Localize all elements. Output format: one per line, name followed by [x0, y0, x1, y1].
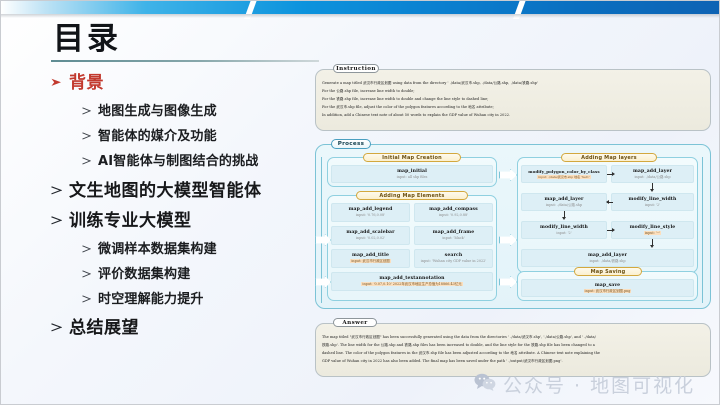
top-banner-decoration [1, 1, 720, 14]
function-input: input: 'black' [442, 236, 464, 241]
function-input: input: ./data/铁路.shp [589, 259, 625, 264]
outline-item-label: 总结展望 [69, 316, 139, 341]
function-input: input: 武汉市行政区划图.png [584, 289, 632, 294]
outline-item-label: 背景 [69, 71, 104, 96]
page-title: 目录 [53, 22, 121, 56]
outline-item-train-domain-model[interactable]: 训练专业大模型 [51, 209, 313, 234]
process-cell-map-add-layer-3[interactable]: map_add_layer input: ./data/铁路.shp [521, 249, 694, 267]
process-cell-modify-line-style[interactable]: modify_line_style input: '--' [611, 221, 694, 239]
group-label-initial-map-creation: Initial Map Creation [363, 153, 461, 162]
process-tab: Process [331, 139, 371, 149]
outline-item-background[interactable]: 背景 [51, 71, 313, 96]
arrow-bullet-icon [82, 245, 91, 253]
workflow-diagram: Instruction Generate a map titled 武汉市行政区… [313, 61, 713, 391]
presentation-slide: 目录 背景 地图生成与图像生成 智能体的媒介及功能 AI智能体与制图结合的挑 [0, 0, 720, 405]
banner-shadow [1, 14, 720, 18]
function-input-highlight: input: ./data/武汉市.shp 地名 'Set1' [537, 175, 590, 179]
instruction-tab: Instruction [333, 64, 379, 73]
arrow-bullet-icon [82, 270, 91, 278]
outline-item-label: 文生地图的大模型智能体 [69, 179, 262, 204]
function-input: input: '2' [645, 203, 660, 208]
function-input: input: '2' [556, 231, 571, 236]
instruction-line-3: For the 铁路.shp file, increase line width… [322, 97, 704, 102]
title-underline [51, 60, 319, 62]
outline-item-label: 微调样本数据集构建 [98, 238, 217, 262]
process-cell-map-add-scalebar[interactable]: map_add_scalebar input: '0.02,0.02' [331, 226, 410, 245]
function-input-highlight: input: 武汉市行政区划图 [350, 259, 390, 263]
process-cell-map-add-layer-1[interactable]: map_add_layer input: ./data/公路.shp [611, 165, 694, 183]
outline-item-label: 智能体的媒介及功能 [98, 125, 217, 149]
outline-item-text-to-map-agent[interactable]: 文生地图的大模型智能体 [51, 179, 313, 204]
outline-item-label: 时空理解能力提升 [98, 288, 204, 312]
instruction-line-2: For the 公路.shp file, increase line width… [322, 89, 704, 94]
outline-list: 背景 地图生成与图像生成 智能体的媒介及功能 AI智能体与制图结合的挑战 文生地 [51, 71, 313, 345]
instruction-line-1: Generate a map titled 武汉市行政区划图 using dat… [322, 81, 704, 86]
function-input: input: '0.92,0.88' [439, 213, 468, 218]
function-input: input: '0.07,0.10' 2022年武汉市地区生产总值为18866.… [361, 282, 462, 287]
answer-line-1: The map titled "武汉市行政区划图" has been succe… [322, 335, 706, 340]
function-input: input: '0.02,0.02' [356, 236, 385, 241]
outline-item-label: AI智能体与制图结合的挑战 [98, 150, 259, 174]
group-label-map-saving: Map Saving [574, 267, 642, 276]
arrow-bullet-icon [82, 295, 91, 303]
outline-item-finetune-dataset[interactable]: 微调样本数据集构建 [82, 238, 313, 262]
arrow-bullet-icon [51, 78, 62, 87]
function-input: input: '0.76,0.08' [356, 213, 385, 218]
process-cell-map-add-legend[interactable]: map_add_legend input: '0.76,0.08' [331, 203, 410, 222]
group-label-adding-map-layers: Adding Map layers [561, 153, 657, 162]
answer-line-4: GDP value of Wuhan city in 2022 has also… [322, 359, 706, 364]
function-input: input: ./data/武汉市.shp 地名 'Set1' [537, 175, 590, 180]
outline-item-agent-medium-function[interactable]: 智能体的媒介及功能 [82, 125, 313, 149]
outline-item-label: 评价数据集构建 [98, 263, 190, 287]
process-cell-map-add-title[interactable]: map_add_title input: 武汉市行政区划图 [331, 249, 410, 268]
function-input: input: 武汉市行政区划图 [350, 259, 390, 264]
group-label-adding-map-elements: Adding Map Elements [356, 191, 468, 200]
instruction-line-5: In addition, add a Chinese text note of … [322, 113, 704, 118]
function-input: input: '--' [644, 231, 661, 236]
process-cell-map-add-textannotation[interactable]: map_add_textannotation input: '0.07,0.10… [331, 272, 493, 291]
answer-line-2: 铁路.shp'. The line width for the 公路.shp a… [322, 343, 706, 348]
function-input: input: all shp files [397, 175, 428, 180]
function-input-highlight: input: '0.07,0.10' 2022年武汉市地区生产总值为18866.… [361, 282, 462, 286]
arrow-bullet-icon [51, 216, 62, 225]
connector-arrowhead [650, 245, 654, 248]
process-cell-map-add-frame[interactable]: map_add_frame input: 'black' [414, 226, 493, 245]
function-input: input: ./data/公路.shp [546, 203, 582, 208]
process-cell-modify-polygon-color-by-class[interactable]: modify_polygon_color_by_class input: ./d… [521, 165, 607, 183]
connector-arrowhead [562, 217, 566, 220]
outline-item-evaluation-dataset[interactable]: 评价数据集构建 [82, 263, 313, 287]
arrow-bullet-icon [82, 132, 91, 140]
watermark-text: 公众号 · 地图可视化 [503, 371, 695, 398]
outline-item-spatiotemporal-understanding[interactable]: 时空理解能力提升 [82, 288, 313, 312]
arrow-bullet-icon [82, 157, 91, 165]
outline-item-label: 地图生成与图像生成 [98, 100, 217, 124]
function-input: input: ./data/公路.shp [634, 175, 670, 180]
process-cell-map-add-layer-2[interactable]: map_add_layer input: ./data/公路.shp [521, 193, 607, 211]
connector-arrowhead [612, 228, 615, 232]
process-cell-search[interactable]: search input: 'Wuhan city GDP value in 2… [414, 249, 493, 268]
outline-item-summary-outlook[interactable]: 总结展望 [51, 316, 313, 341]
arrow-bullet-icon [51, 323, 62, 332]
outline-item-label: 训练专业大模型 [69, 209, 192, 234]
answer-panel [315, 323, 711, 377]
watermark: 公众号 · 地图可视化 [474, 371, 695, 398]
process-rail-right [702, 157, 703, 303]
connector-arrowhead [650, 189, 654, 192]
outline-item-ai-agent-cartography-challenge[interactable]: AI智能体与制图结合的挑战 [82, 150, 313, 174]
process-cell-modify-line-width-1[interactable]: modify_line_width input: '2' [611, 193, 694, 211]
arrow-bullet-icon [51, 186, 62, 195]
process-cell-map-initial[interactable]: map_initial input: all shp files [331, 165, 493, 183]
instruction-line-4: For the 武汉市.shp file, adjust the color o… [322, 105, 704, 110]
outline-item-map-image-generation[interactable]: 地图生成与图像生成 [82, 100, 313, 124]
arrow-bullet-icon [82, 107, 91, 115]
function-input-highlight: input: '--' [644, 231, 661, 235]
function-input: input: 'Wuhan city GDP value in 2022' [421, 259, 486, 264]
process-cell-map-add-compass[interactable]: map_add_compass input: '0.92,0.88' [414, 203, 493, 222]
wechat-icon [474, 373, 496, 396]
process-cell-modify-line-width-2[interactable]: modify_line_width input: '2' [521, 221, 607, 239]
answer-tab: Answer [333, 318, 377, 327]
connector-arrowhead [612, 172, 615, 176]
function-input-highlight: input: 武汉市行政区划图.png [584, 289, 632, 293]
connector-arrowhead [606, 200, 609, 204]
process-cell-map-save[interactable]: map_save input: 武汉市行政区划图.png [521, 279, 694, 297]
answer-line-3: dashed line. The color of the polygon fe… [322, 351, 706, 356]
